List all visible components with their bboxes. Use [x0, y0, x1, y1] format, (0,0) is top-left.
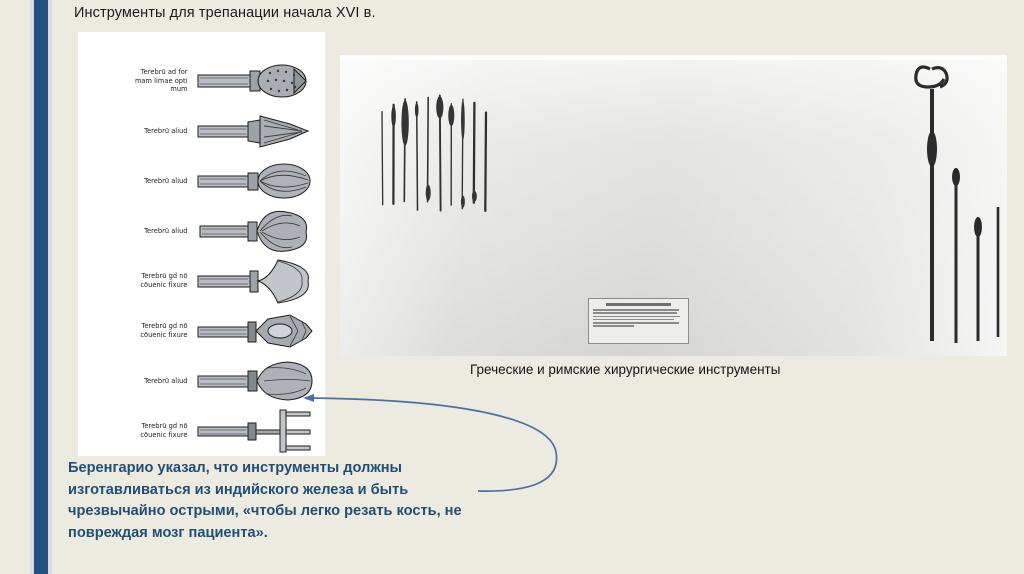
tool-label: Terebrū aliud [78, 127, 194, 136]
plate-text-line [593, 309, 679, 311]
tool-row: Terebrū ad formam limae optimum [78, 56, 325, 106]
tool-row: Terebrū gd nōcōuenic fixure [78, 306, 325, 356]
plate-title-line [606, 303, 672, 306]
greek-roman-instruments-photo [340, 55, 1007, 356]
plate-text-line [593, 322, 679, 324]
tool-label: Terebrū ad formam limae optimum [78, 68, 194, 94]
photo-caption: Греческие и римские хирургические инстру… [470, 362, 780, 377]
tool-label: Terebrū aliud [78, 227, 194, 236]
tool-label: Terebrū aliud [78, 177, 194, 186]
body-text-line: изготавливаться из индийского железа и б… [68, 480, 538, 502]
crescent-blade-drill-icon [194, 256, 325, 306]
plate-text-line [593, 319, 674, 321]
museum-label-plate [588, 298, 689, 344]
body-text-line: повреждая мозг пациента». [68, 523, 538, 545]
plate-text-line [593, 325, 634, 327]
conical-fluted-drill-icon [194, 106, 325, 156]
tool-row: Terebrū aliud [78, 206, 325, 256]
plate-text-line [593, 316, 680, 318]
olive-tip-drill-icon [194, 356, 325, 406]
tool-label: Terebrū gd nōcōuenic fixure [78, 322, 194, 339]
body-text-line: Беренгарио указал, что инструменты должн… [68, 458, 538, 480]
tool-row: Terebrū gd nōcōuenic fixure [78, 256, 325, 306]
tool-label: Terebrū gd nōcōuenic fixure [78, 272, 194, 289]
body-text-line: чрезвычайно острыми, «чтобы легко резать… [68, 501, 538, 523]
tool-row: Terebrū aliud [78, 356, 325, 406]
trepanation-instruments-figure: Terebrū ad formam limae optimum [78, 32, 325, 456]
acorn-burr-drill-icon [194, 56, 325, 106]
plate-text-line [593, 312, 677, 314]
tool-row: Terebrū gd nōcōuenic fixure [78, 406, 325, 456]
tool-label: Terebrū gd nōcōuenic fixure [78, 422, 194, 439]
tulip-crown-drill-icon [194, 206, 325, 256]
onion-bulb-drill-icon [194, 156, 325, 206]
tool-label: Terebrū aliud [78, 377, 194, 386]
slide-accent-bar [30, 0, 52, 574]
spear-head-drill-icon [194, 306, 325, 356]
tool-row: Terebrū aliud [78, 156, 325, 206]
tool-row: Terebrū aliud [78, 106, 325, 156]
large-hooked-instrument [916, 67, 998, 343]
body-text-block: Беренгарио указал, что инструменты должн… [68, 458, 538, 544]
accent-bar-inner [34, 0, 48, 574]
three-prong-fork-drill-icon [194, 406, 325, 456]
page-title: Инструменты для трепанации начала XVI в. [74, 5, 376, 21]
